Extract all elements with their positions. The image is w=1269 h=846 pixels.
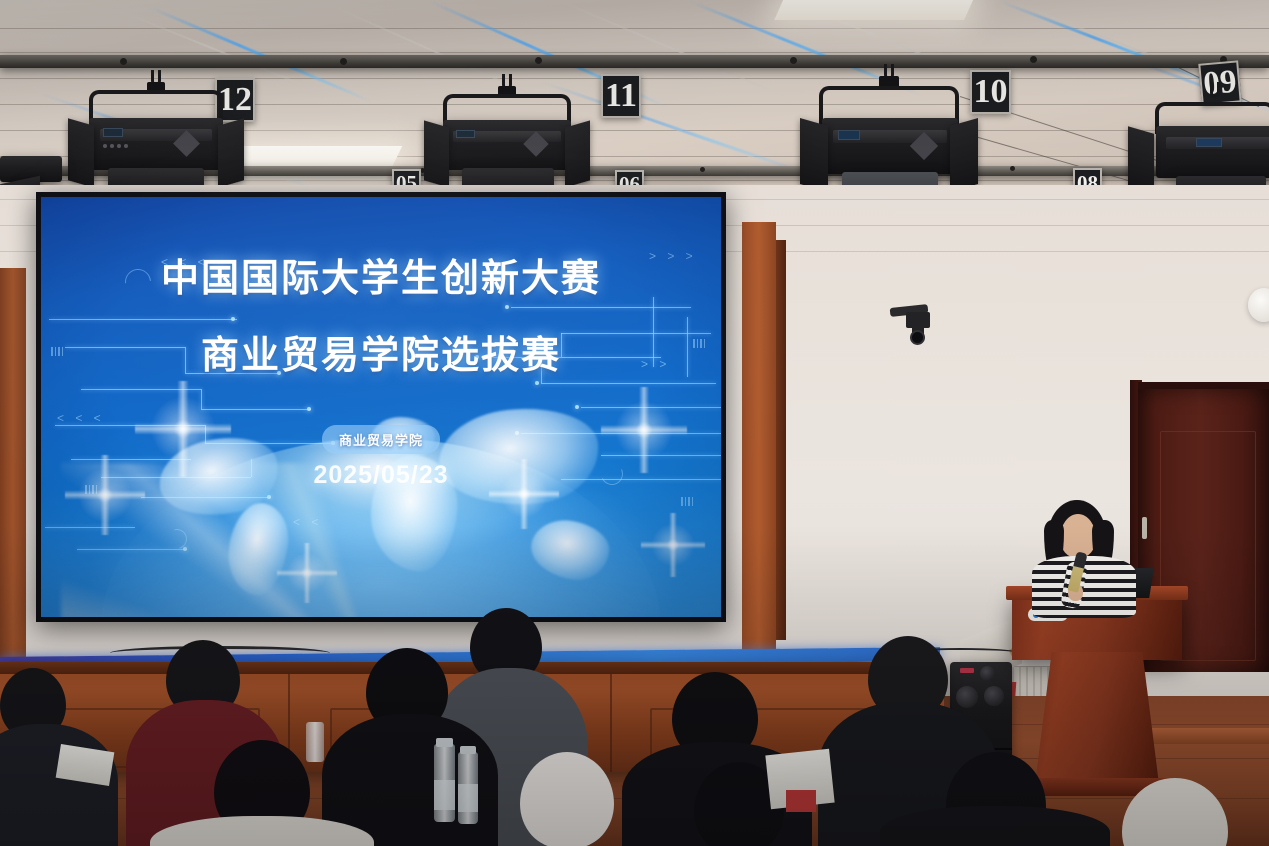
security-camera xyxy=(890,298,934,346)
screen-org-badge: 商业贸易学院 xyxy=(322,425,440,454)
globe-graphic xyxy=(41,363,721,617)
wall-wood-trim xyxy=(742,222,776,662)
stage-light xyxy=(68,84,244,194)
water-bottle[interactable] xyxy=(306,722,324,762)
audience-member xyxy=(0,724,118,846)
screen-date: 2025/05/23 xyxy=(41,461,721,490)
led-presentation-screen: < < < < < < > > > > > < < xyxy=(36,192,726,622)
stage-light xyxy=(424,88,590,196)
audience-member xyxy=(880,806,1110,846)
bottle-cap xyxy=(436,738,453,747)
wall-wood-trim xyxy=(776,240,786,640)
ceiling-light-panel xyxy=(774,0,976,20)
podium-column xyxy=(1034,652,1160,792)
audience-member xyxy=(520,752,614,846)
light-flare xyxy=(641,513,705,577)
wall-wood-trim xyxy=(0,268,26,660)
screen-title-line2: 商业贸易学院选拔赛 xyxy=(41,324,721,379)
screen-surface: < < < < < < > > > > > < < xyxy=(41,197,721,617)
water-bottle[interactable] xyxy=(434,744,455,822)
water-bottle[interactable] xyxy=(458,752,478,824)
document-sheet[interactable] xyxy=(786,790,816,812)
screen-title-line1: 中国国际大学生创新大赛 xyxy=(41,247,721,302)
barn-door-right xyxy=(218,118,244,187)
presenter xyxy=(1020,500,1150,620)
light-flare xyxy=(277,543,337,603)
ceiling-truss-upper xyxy=(0,55,1269,68)
bottle-cap xyxy=(460,746,476,754)
ceiling-sign-11: 11 xyxy=(601,74,641,118)
stage-light xyxy=(800,80,978,198)
photo-scene: 12 11 10 09 05 06 08 xyxy=(0,0,1269,846)
